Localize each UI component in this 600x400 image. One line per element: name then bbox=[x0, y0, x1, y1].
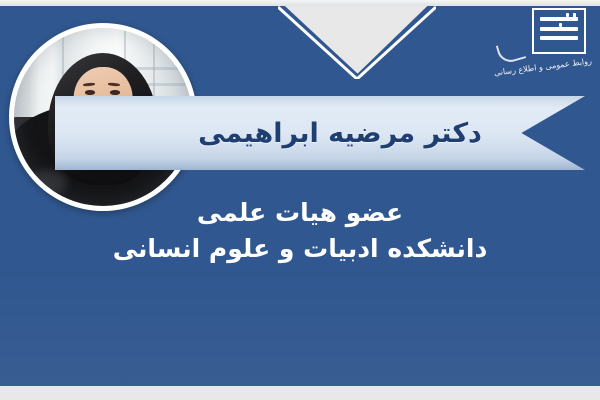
role-title: عضو هیات علمی bbox=[0, 196, 600, 230]
university-seal-icon bbox=[532, 8, 586, 54]
role-block: عضو هیات علمی دانشکده ادبیات و علوم انسا… bbox=[0, 196, 600, 268]
person-name: دکتر مرضیه ابراهیمی bbox=[55, 96, 585, 170]
faculty-intro-card: روابط عمومی و اطلاع رسانی دکتر مرضیه ابر… bbox=[0, 0, 600, 400]
seal-line bbox=[540, 17, 578, 21]
name-ribbon: دکتر مرضیه ابراهیمی bbox=[55, 96, 585, 170]
seal-line bbox=[540, 27, 578, 31]
role-faculty: دانشکده ادبیات و علوم انسانی bbox=[0, 230, 600, 268]
university-logo: روابط عمومی و اطلاع رسانی bbox=[496, 6, 592, 78]
seal-line bbox=[540, 36, 578, 40]
